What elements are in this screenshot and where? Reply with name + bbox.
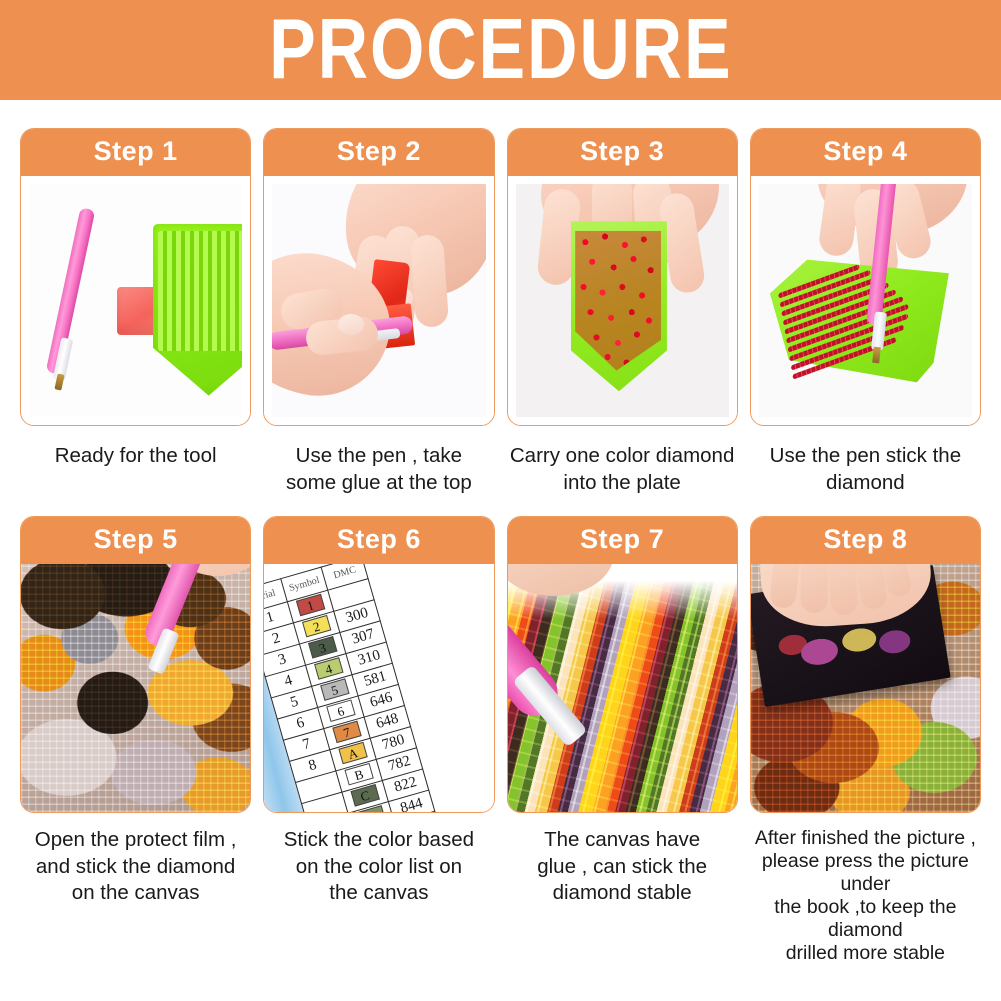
- chart-color-swatch: 1: [295, 594, 324, 617]
- step-cell-8: Step 8: [744, 516, 987, 965]
- step-caption-8: After finished the picture , please pres…: [750, 827, 981, 965]
- steps-grid: Step 1 Ready for the tool Step 2: [0, 100, 1001, 965]
- step-cell-2: Step 2: [257, 128, 500, 496]
- step-card-6[interactable]: Step 6 SerialSymbolDMC112230033307443105…: [263, 516, 494, 813]
- tray-with-diamonds-illustration: [516, 184, 729, 417]
- finger-icon: [410, 234, 449, 328]
- step-cell-3: Step 3 Carry one color diamond into the …: [501, 128, 744, 496]
- tray-grooves-icon: [158, 231, 242, 351]
- step-caption-3: Carry one color diamond into the plate: [507, 442, 738, 496]
- steps-row-top: Step 1 Ready for the tool Step 2: [0, 100, 1001, 496]
- step-badge-8: Step 8: [751, 517, 980, 564]
- step-card-4[interactable]: Step 4: [750, 128, 981, 426]
- step-caption-7: The canvas have glue , can stick the dia…: [507, 827, 738, 907]
- step-cell-4: Step 4: [744, 128, 987, 496]
- page-title: PROCEDURE: [269, 7, 732, 92]
- step-caption-6: Stick the color based on the color list …: [263, 827, 494, 907]
- pressing-book-illustration: [751, 564, 980, 812]
- step-caption-1: Ready for the tool: [20, 442, 251, 469]
- step-badge-1: Step 1: [21, 129, 250, 176]
- steps-row-bottom: Step 5 Open the protect film , and stick…: [0, 496, 1001, 965]
- diamond-closeup-illustration: [508, 564, 737, 812]
- step-caption-5: Open the protect film , and stick the di…: [20, 827, 251, 907]
- bead-grid-overlay-icon: [21, 564, 250, 812]
- step-card-2[interactable]: Step 2: [263, 128, 494, 426]
- color-chart-illustration: SerialSymbolDMC1122300333074431055581666…: [264, 564, 493, 812]
- step-badge-7: Step 7: [508, 517, 737, 564]
- step-card-1[interactable]: Step 1: [20, 128, 251, 426]
- step-card-3[interactable]: Step 3: [507, 128, 738, 426]
- color-chart-sheet: SerialSymbolDMC1122300333074431055581666…: [264, 564, 493, 812]
- pen-picking-diamond-illustration: [759, 184, 972, 417]
- tool-kit-illustration: [29, 184, 242, 417]
- step-caption-2: Use the pen , take some glue at the top: [263, 442, 494, 496]
- page-header-banner: PROCEDURE: [0, 0, 1001, 100]
- sunflower-canvas-illustration: [21, 564, 250, 812]
- step-badge-4: Step 4: [751, 129, 980, 176]
- step-photo-2: [264, 176, 493, 425]
- step-card-5[interactable]: Step 5: [20, 516, 251, 813]
- step-photo-4: [751, 176, 980, 425]
- finger-icon: [824, 564, 859, 616]
- step-photo-7: [508, 564, 737, 812]
- color-chart-table: SerialSymbolDMC1122300333074431055581666…: [264, 564, 459, 812]
- step-photo-3: [508, 176, 737, 425]
- step-cell-7: Step 7 The canvas have glue , can stick …: [501, 516, 744, 965]
- finger-icon: [768, 564, 803, 609]
- step-badge-5: Step 5: [21, 517, 250, 564]
- finger-icon: [800, 564, 827, 613]
- step-photo-5: [21, 564, 250, 812]
- step-badge-3: Step 3: [508, 129, 737, 176]
- step-badge-2: Step 2: [264, 129, 493, 176]
- step-card-7[interactable]: Step 7: [507, 516, 738, 813]
- step-photo-6: SerialSymbolDMC1122300333074431055581666…: [264, 564, 493, 812]
- step-photo-8: [751, 564, 980, 812]
- step-badge-6: Step 6: [264, 517, 493, 564]
- hands-taking-glue-illustration: [272, 184, 485, 417]
- step-photo-1: [21, 176, 250, 425]
- step-cell-6: Step 6 SerialSymbolDMC112230033307443105…: [257, 516, 500, 965]
- step-card-8[interactable]: Step 8: [750, 516, 981, 813]
- step-caption-4: Use the pen stick the diamond: [750, 442, 981, 496]
- step-cell-1: Step 1 Ready for the tool: [14, 128, 257, 496]
- step-cell-5: Step 5 Open the protect film , and stick…: [14, 516, 257, 965]
